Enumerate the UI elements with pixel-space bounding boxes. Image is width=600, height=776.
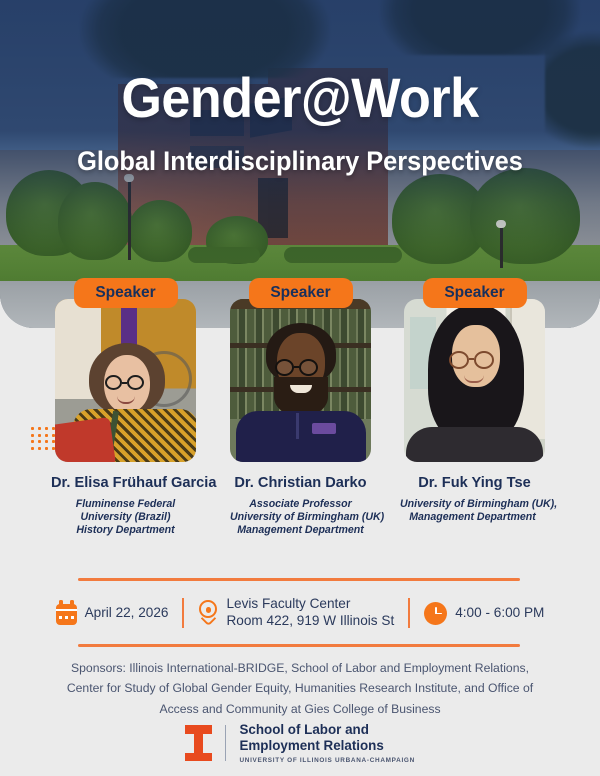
sponsors-text: Sponsors: Illinois International-BRIDGE,… bbox=[40, 658, 560, 719]
event-date-text: April 22, 2026 bbox=[85, 605, 169, 622]
sponsors-line-1: Sponsors: Illinois International-BRIDGE,… bbox=[40, 658, 560, 678]
speaker-affiliation: Fluminense Federal University (Brazil) H… bbox=[55, 498, 196, 537]
event-venue-text: Levis Faculty Center Room 422, 919 W Ill… bbox=[226, 596, 394, 630]
sponsors-line-3: Access and Community at Gies College of … bbox=[40, 699, 560, 719]
venue-line-1: Levis Faculty Center bbox=[226, 596, 350, 611]
speaker-affiliation-line: History Department bbox=[55, 524, 196, 537]
speaker-affiliation-line: University of Birmingham (UK), bbox=[400, 498, 545, 511]
speaker-name: Dr. Elisa Frühauf Garcia bbox=[51, 475, 196, 491]
logo-line-3: UNIVERSITY OF ILLINOIS URBANA-CHAMPAIGN bbox=[239, 757, 414, 764]
speaker-name: Dr. Christian Darko bbox=[230, 475, 371, 491]
logo-wordmark: School of Labor and Employment Relations… bbox=[239, 722, 414, 765]
speaker-badge: Speaker bbox=[423, 278, 527, 308]
divider-top bbox=[78, 578, 520, 581]
page-subtitle: Global Interdisciplinary Perspectives bbox=[18, 146, 582, 177]
event-details-bar: April 22, 2026 Levis Faculty Center Room… bbox=[0, 592, 600, 634]
venue-line-2: Room 422, 919 W Illinois St bbox=[226, 613, 394, 628]
speaker-card: Speaker Dr. Christian Darko Associate Pr… bbox=[230, 278, 371, 537]
event-time: 4:00 - 6:00 PM bbox=[410, 602, 558, 625]
speaker-photo-fuk-ying-tse bbox=[404, 299, 545, 462]
speaker-affiliation-line: Management Department bbox=[230, 524, 371, 537]
speaker-affiliation-line: Associate Professor bbox=[230, 498, 371, 511]
calendar-icon bbox=[56, 604, 77, 625]
logo-line-2: Employment Relations bbox=[239, 738, 414, 754]
page-title: Gender@Work bbox=[21, 70, 579, 126]
event-date: April 22, 2026 bbox=[42, 602, 183, 625]
speaker-affiliation: University of Birmingham (UK), Managemen… bbox=[400, 498, 545, 524]
speaker-name: Dr. Fuk Ying Tse bbox=[404, 475, 545, 491]
location-pin-icon bbox=[198, 600, 218, 626]
speaker-card: Speaker Dr. Fuk Ying Tse University of B… bbox=[404, 278, 545, 524]
speaker-card: Speaker Dr. Elisa Frühauf Garcia Flumine… bbox=[55, 278, 196, 537]
logo-line-1: School of Labor and bbox=[239, 722, 414, 738]
speaker-affiliation: Associate Professor University of Birmin… bbox=[230, 498, 371, 537]
speaker-photo-christian-darko bbox=[230, 299, 371, 462]
speaker-affiliation-line: Fluminense Federal bbox=[55, 498, 196, 511]
event-time-text: 4:00 - 6:00 PM bbox=[455, 605, 544, 622]
speaker-badge: Speaker bbox=[249, 278, 353, 308]
event-venue: Levis Faculty Center Room 422, 919 W Ill… bbox=[184, 596, 408, 630]
speaker-affiliation-line: University (Brazil) bbox=[55, 511, 196, 524]
illinois-block-i-icon bbox=[185, 725, 212, 761]
divider-bottom bbox=[78, 644, 520, 647]
sponsors-line-2: Center for Study of Global Gender Equity… bbox=[40, 678, 560, 698]
hero-text-block: Gender@Work Global Interdisciplinary Per… bbox=[0, 0, 600, 177]
logo-divider bbox=[225, 725, 226, 761]
speaker-photo-elisa-fruhauf-garcia bbox=[55, 299, 196, 462]
footer-logo: School of Labor and Employment Relations… bbox=[0, 722, 600, 765]
speaker-badge: Speaker bbox=[74, 278, 178, 308]
clock-icon bbox=[424, 602, 447, 625]
speaker-affiliation-line: University of Birmingham (UK) bbox=[230, 511, 371, 524]
speaker-affiliation-line: Management Department bbox=[400, 511, 545, 524]
